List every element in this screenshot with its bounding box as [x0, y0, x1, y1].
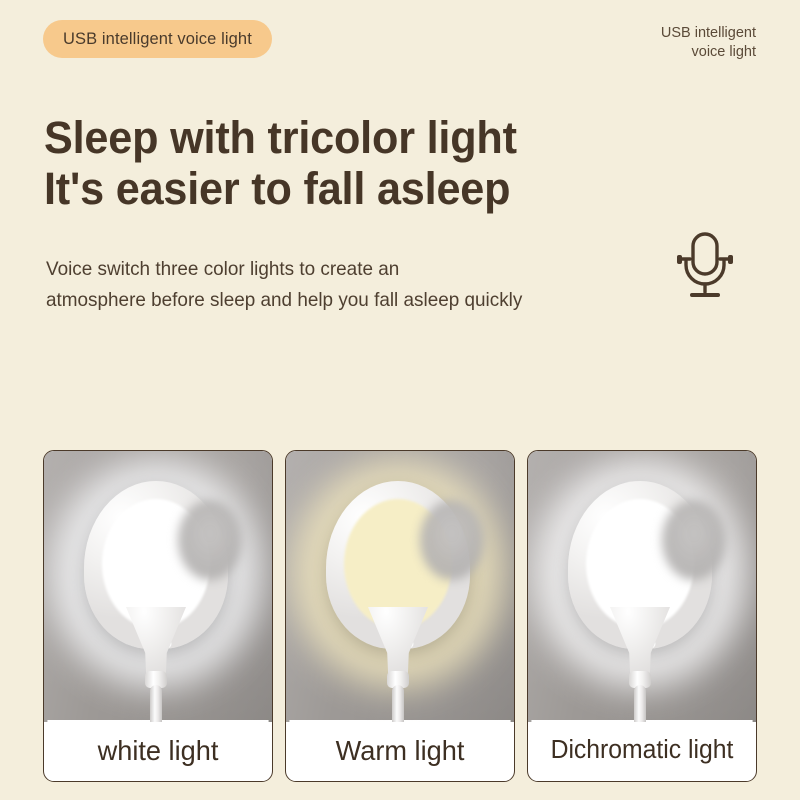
lamp-stem [634, 685, 646, 722]
product-badge: USB intelligent voice light [43, 20, 272, 58]
light-mode-card-dichromatic[interactable]: Dichromatic light [527, 450, 757, 782]
light-mode-label: Dichromatic light [531, 720, 752, 781]
lamp-stem [392, 685, 404, 722]
product-badge-label: USB intelligent voice light [63, 30, 252, 49]
microphone-icon [674, 231, 736, 299]
light-mode-card-list: white light Warm light [43, 450, 757, 782]
page-title: Sleep with tricolor light It's easier to… [44, 113, 517, 214]
product-banner: USB intelligent voice light USB intellig… [0, 0, 800, 800]
lamp-ring-center [178, 500, 242, 580]
page-description: Voice switch three color lights to creat… [46, 254, 667, 317]
light-mode-label: Warm light [289, 720, 510, 781]
lamp-stem [150, 685, 162, 722]
product-photo [528, 451, 756, 722]
lamp-ring-center [662, 500, 726, 580]
product-photo [44, 451, 272, 722]
lamp-ring-center [420, 500, 484, 580]
light-mode-card-warm[interactable]: Warm light [285, 450, 515, 782]
light-mode-card-white[interactable]: white light [43, 450, 273, 782]
product-photo [286, 451, 514, 722]
light-mode-label: white light [47, 720, 268, 781]
corner-note: USB intelligent voice light [661, 24, 756, 63]
